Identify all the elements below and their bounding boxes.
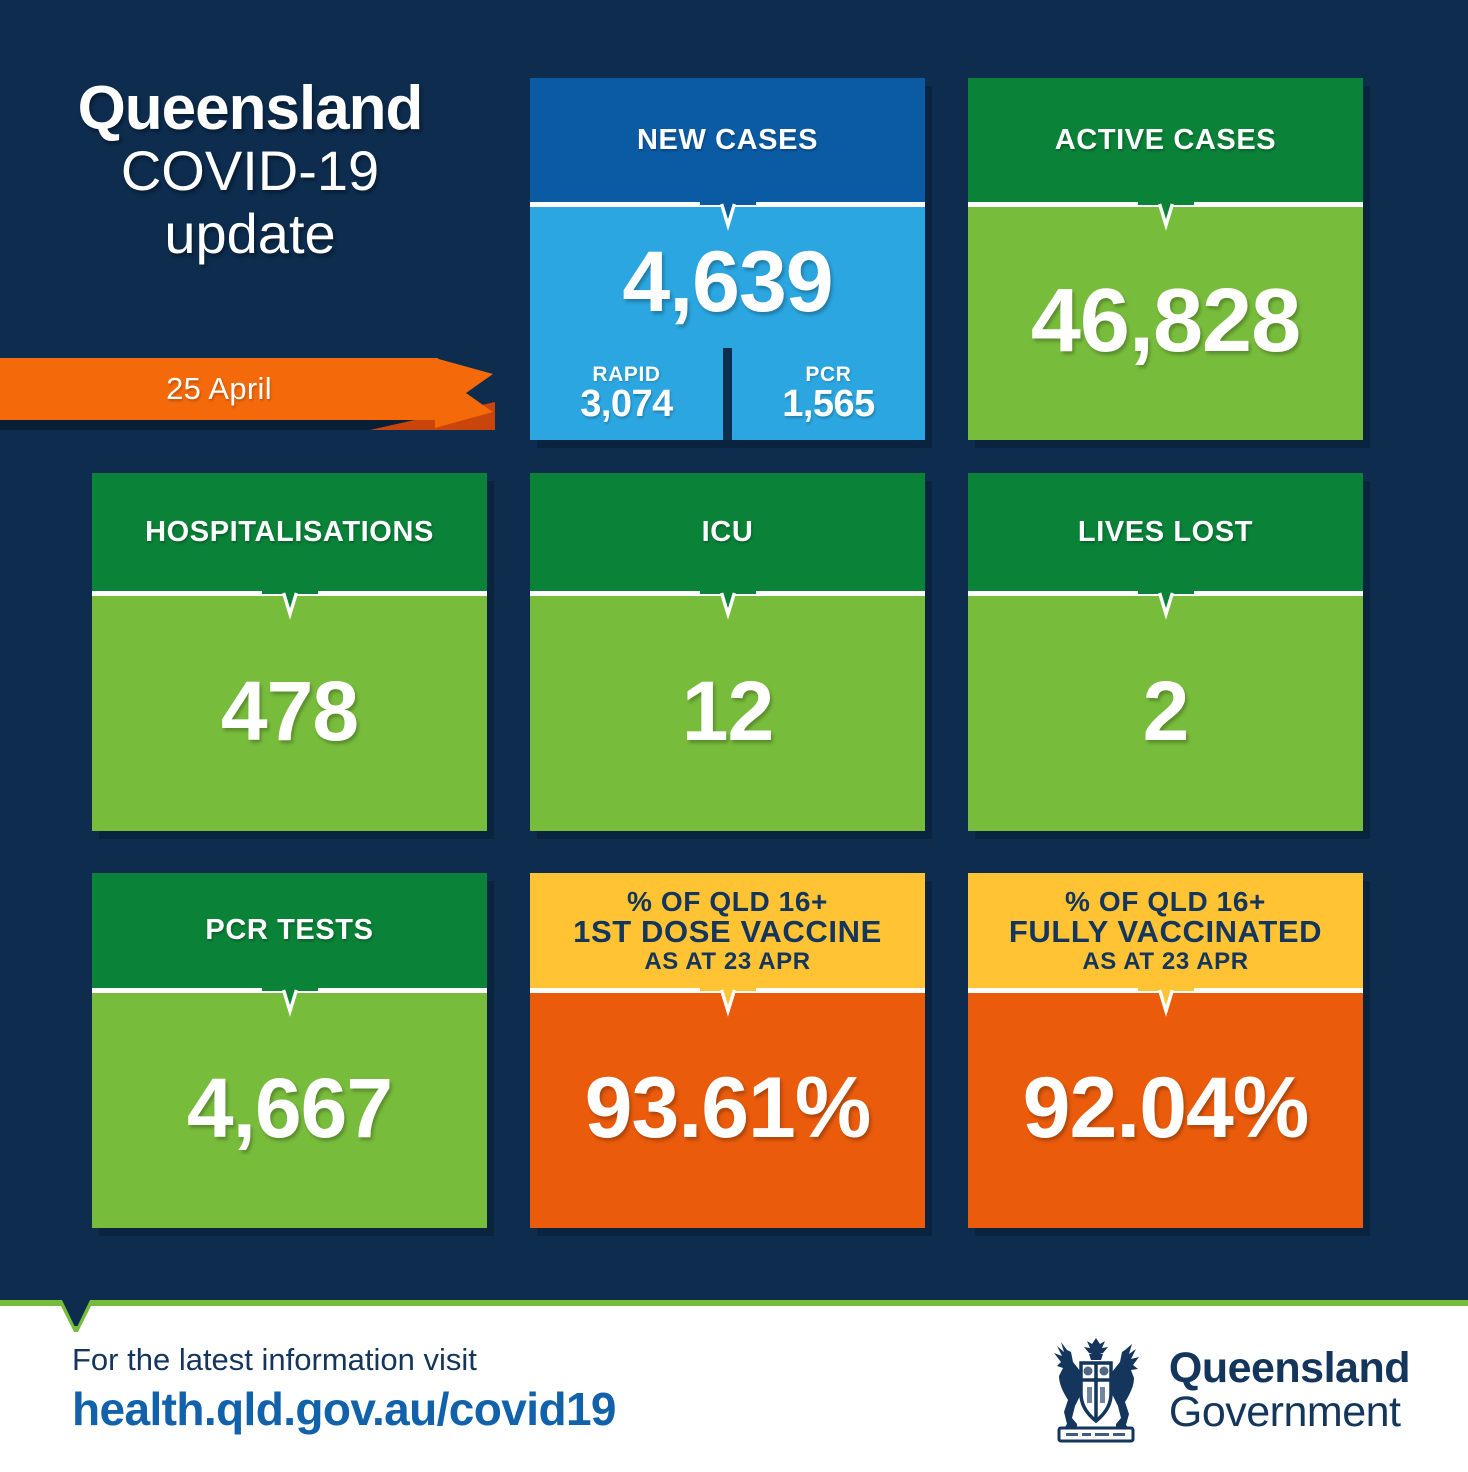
- card-value: 46,828: [1031, 276, 1300, 366]
- card-value: 93.61%: [585, 1065, 871, 1151]
- card-header-lives-lost: LIVES LOST: [968, 473, 1363, 591]
- card-notch-icon: [1138, 988, 1194, 1022]
- page-title: Queensland COVID-19 update: [0, 78, 500, 265]
- card-header-line-1: % OF QLD 16+: [627, 887, 828, 917]
- card-notch-icon: [700, 591, 756, 625]
- stat-card-fully-vaccinated: % OF QLD 16+ FULLY VACCINATED AS AT 23 A…: [968, 873, 1363, 1228]
- card-header-line-2: FULLY VACCINATED: [1009, 916, 1322, 949]
- infographic-canvas: Queensland COVID-19 update 25 April NEW …: [0, 0, 1468, 1472]
- card-header-line-2: 1ST DOSE VACCINE: [573, 916, 882, 949]
- breakdown-item-rapid: RAPID 3,074: [530, 348, 723, 440]
- footer-url-link[interactable]: health.qld.gov.au/covid19: [72, 1382, 616, 1436]
- stat-card-first-dose-vaccine: % OF QLD 16+ 1ST DOSE VACCINE AS AT 23 A…: [530, 873, 925, 1228]
- card-header-hospitalisations: HOSPITALISATIONS: [92, 473, 487, 591]
- footer-text-block: For the latest information visit health.…: [72, 1342, 616, 1436]
- card-header-line-3: AS AT 23 APR: [1082, 949, 1248, 974]
- title-line-queensland: Queensland: [0, 78, 500, 140]
- card-header-label: HOSPITALISATIONS: [145, 516, 434, 549]
- card-header-label: ICU: [702, 516, 754, 549]
- stat-card-pcr-tests: PCR TESTS 4,667: [92, 873, 487, 1228]
- card-header-line-1: % OF QLD 16+: [1065, 887, 1266, 917]
- stat-card-hospitalisations: HOSPITALISATIONS 478: [92, 473, 487, 831]
- card-header-line-3: AS AT 23 APR: [644, 949, 810, 974]
- card-notch-icon: [1138, 591, 1194, 625]
- logo-line-government: Government: [1169, 1391, 1410, 1435]
- card-header-label: NEW CASES: [637, 124, 818, 157]
- card-value: 2: [1143, 669, 1189, 753]
- card-header-fully-vaccinated: % OF QLD 16+ FULLY VACCINATED AS AT 23 A…: [968, 873, 1363, 988]
- card-body-lives-lost: 2: [968, 591, 1363, 831]
- card-header-pcr-tests: PCR TESTS: [92, 873, 487, 988]
- card-header-label: ACTIVE CASES: [1055, 124, 1277, 157]
- card-notch-icon: [262, 591, 318, 625]
- footer-prompt: For the latest information visit: [72, 1342, 616, 1378]
- card-body-first-dose-vaccine: 93.61%: [530, 988, 925, 1228]
- stat-card-new-cases: NEW CASES 4,639 RAPID 3,074 PCR 1,565: [530, 78, 925, 440]
- card-value: 478: [221, 669, 358, 753]
- breakdown-label: RAPID: [592, 364, 660, 385]
- footer-notch-icon: [58, 1300, 94, 1334]
- stat-card-active-cases: ACTIVE CASES 46,828: [968, 78, 1363, 440]
- card-body-new-cases: 4,639 RAPID 3,074 PCR 1,565: [530, 202, 925, 440]
- date-ribbon: 25 April: [0, 356, 500, 430]
- qld-coat-of-arms-icon: [1037, 1332, 1155, 1450]
- title-line-covid19: COVID-19: [0, 140, 500, 203]
- stat-card-icu: ICU 12: [530, 473, 925, 831]
- card-header-first-dose-vaccine: % OF QLD 16+ 1ST DOSE VACCINE AS AT 23 A…: [530, 873, 925, 988]
- footer-bar: For the latest information visit health.…: [0, 1300, 1468, 1472]
- breakdown-item-pcr: PCR 1,565: [732, 348, 925, 440]
- card-value: 92.04%: [1023, 1065, 1309, 1151]
- card-body-pcr-tests: 4,667: [92, 988, 487, 1228]
- new-cases-breakdown: RAPID 3,074 PCR 1,565: [530, 348, 925, 440]
- card-body-active-cases: 46,828: [968, 202, 1363, 440]
- logo-line-queensland: Queensland: [1169, 1347, 1410, 1391]
- date-label: 25 April: [0, 358, 438, 420]
- card-value: 12: [682, 669, 773, 753]
- breakdown-divider: [723, 348, 732, 440]
- breakdown-value: 1,565: [782, 385, 875, 424]
- card-value: 4,639: [622, 239, 832, 325]
- card-header-icu: ICU: [530, 473, 925, 591]
- card-body-icu: 12: [530, 591, 925, 831]
- card-header-active-cases: ACTIVE CASES: [968, 78, 1363, 202]
- card-body-hospitalisations: 478: [92, 591, 487, 831]
- card-header-label: PCR TESTS: [205, 914, 373, 947]
- breakdown-value: 3,074: [580, 385, 673, 424]
- card-notch-icon: [1138, 202, 1194, 236]
- card-header-new-cases: NEW CASES: [530, 78, 925, 202]
- card-value: 4,667: [187, 1066, 392, 1150]
- title-line-update: update: [0, 203, 500, 266]
- stat-card-lives-lost: LIVES LOST 2: [968, 473, 1363, 831]
- card-body-fully-vaccinated: 92.04%: [968, 988, 1363, 1228]
- card-header-label: LIVES LOST: [1078, 516, 1253, 549]
- breakdown-label: PCR: [805, 364, 851, 385]
- card-notch-icon: [700, 202, 756, 236]
- qld-government-logo: Queensland Government: [1037, 1332, 1410, 1450]
- qld-logo-wordmark: Queensland Government: [1169, 1347, 1410, 1435]
- card-notch-icon: [700, 988, 756, 1022]
- card-notch-icon: [262, 988, 318, 1022]
